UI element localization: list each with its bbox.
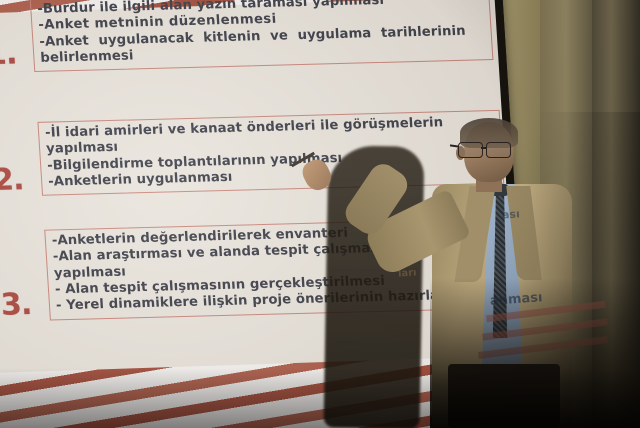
slide-item-1-box: -Burdur ile ilgili alan yazın taraması y… xyxy=(30,0,494,72)
slide-item-1: 1. -Burdur ile ilgili alan yazın taramas… xyxy=(0,0,493,74)
glasses-lens-right xyxy=(486,142,511,158)
glasses-bridge xyxy=(481,147,486,149)
slide-item-2-number: 2. xyxy=(0,165,42,197)
slide-item-1-number: 1. xyxy=(0,39,34,72)
glasses-lens-left xyxy=(458,142,483,158)
photo-scene: 1. -Burdur ile ilgili alan yazın taramas… xyxy=(0,0,640,428)
floor-shadow xyxy=(0,368,640,428)
slide-item-3-number: 3. xyxy=(0,289,50,321)
glasses-temple xyxy=(450,144,459,147)
presenter-glasses-icon xyxy=(458,142,516,157)
